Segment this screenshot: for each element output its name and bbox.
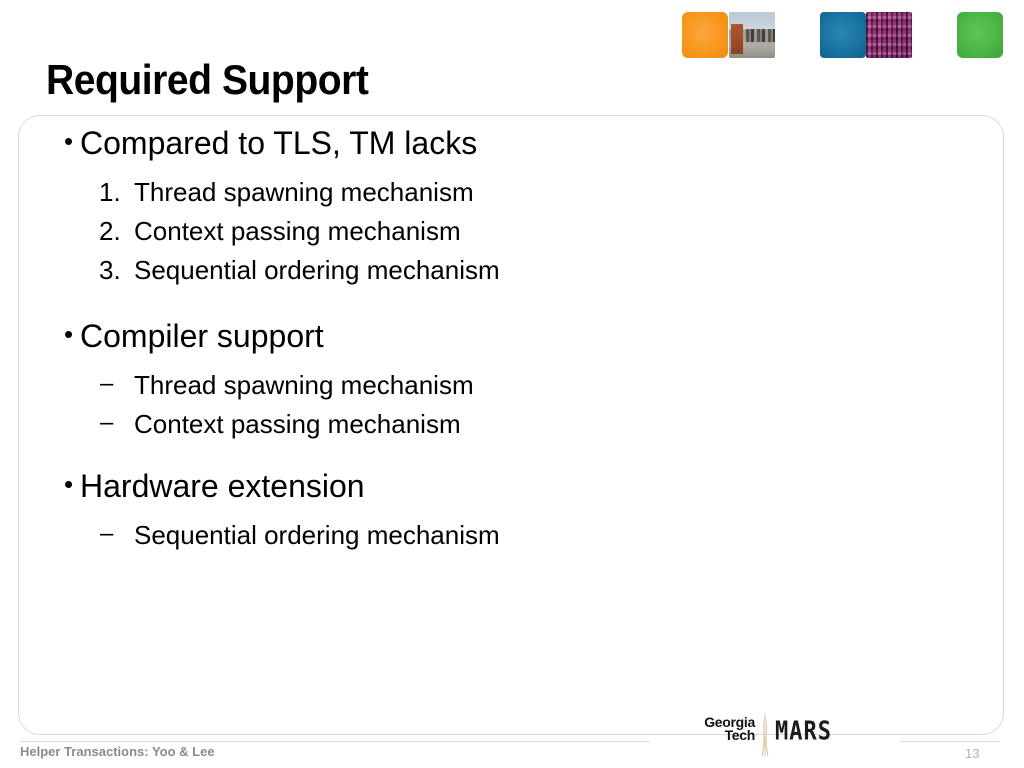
list-marker: 1. bbox=[42, 179, 134, 205]
footer-text: Helper Transactions: Yoo & Lee bbox=[20, 744, 215, 759]
bullet-dot-icon: • bbox=[42, 127, 80, 157]
bullet-group: • Compiler support – Thread spawning mec… bbox=[42, 320, 980, 437]
bullet-heading-text: Compiler support bbox=[80, 320, 324, 352]
list-item-text: Thread spawning mechanism bbox=[134, 179, 474, 205]
list-item: – Sequential ordering mechanism bbox=[42, 508, 980, 548]
circuit-square bbox=[866, 12, 912, 58]
list-item-text: Thread spawning mechanism bbox=[134, 372, 474, 398]
green-square bbox=[957, 12, 1003, 58]
list-item-text: Context passing mechanism bbox=[134, 411, 461, 437]
logo-line-2: Tech bbox=[683, 729, 755, 742]
dash-marker-icon: – bbox=[42, 522, 134, 546]
mars-wordmark: MARS bbox=[775, 717, 832, 747]
list-marker: 3. bbox=[42, 257, 134, 283]
bullet-dot-icon: • bbox=[42, 470, 80, 500]
georgia-tech-wordmark: Georgia Tech bbox=[683, 716, 755, 742]
page-number: 13 bbox=[965, 746, 979, 761]
dash-marker-icon: – bbox=[42, 372, 134, 396]
list-item: – Thread spawning mechanism bbox=[42, 358, 980, 398]
torch-icon bbox=[758, 712, 772, 756]
footer-divider bbox=[20, 741, 650, 742]
decorative-squares-strip bbox=[0, 12, 1024, 62]
spacer bbox=[42, 440, 980, 470]
list-item: 3. Sequential ordering mechanism bbox=[42, 247, 980, 283]
list-item: 2. Context passing mechanism bbox=[42, 208, 980, 244]
bullet-heading: • Compiler support bbox=[42, 320, 980, 352]
footer-divider-right bbox=[900, 741, 1000, 742]
spacer bbox=[42, 286, 980, 320]
list-item: – Context passing mechanism bbox=[42, 401, 980, 437]
dash-marker-icon: – bbox=[42, 411, 134, 435]
list-item-text: Context passing mechanism bbox=[134, 218, 461, 244]
bullet-heading-text: Compared to TLS, TM lacks bbox=[80, 127, 477, 159]
georgia-tech-mars-logo: Georgia Tech MARS bbox=[683, 714, 851, 754]
orange-square bbox=[682, 12, 728, 58]
blue-square bbox=[820, 12, 866, 58]
photo-square bbox=[729, 12, 775, 58]
list-item-text: Sequential ordering mechanism bbox=[134, 257, 500, 283]
bullet-heading: • Compared to TLS, TM lacks bbox=[42, 127, 980, 159]
bullet-heading: • Hardware extension bbox=[42, 470, 980, 502]
list-marker: 2. bbox=[42, 218, 134, 244]
bullet-group: • Hardware extension – Sequential orderi… bbox=[42, 470, 980, 548]
bullet-dot-icon: • bbox=[42, 320, 80, 350]
slide-body: • Compared to TLS, TM lacks 1. Thread sp… bbox=[18, 115, 1004, 735]
page-title: Required Support bbox=[46, 56, 368, 104]
bullet-heading-text: Hardware extension bbox=[80, 470, 365, 502]
list-item-text: Sequential ordering mechanism bbox=[134, 522, 500, 548]
list-item: 1. Thread spawning mechanism bbox=[42, 165, 980, 205]
bullet-group: • Compared to TLS, TM lacks 1. Thread sp… bbox=[42, 127, 980, 283]
